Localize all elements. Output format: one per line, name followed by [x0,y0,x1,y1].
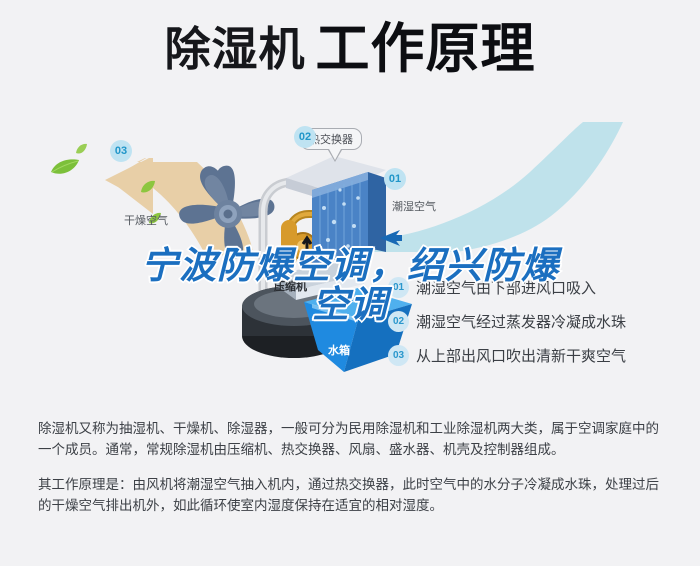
compressor-label: 压缩机 [274,278,307,294]
humid-air-label: 潮湿空气 [392,198,436,214]
legend-list: 01 潮湿空气由下部进风口吸入 02 潮湿空气经过蒸发器冷凝成水珠 03 从上部… [388,270,688,372]
legend-badge-02: 02 [388,311,409,332]
paragraph-1: 除湿机又称为抽湿机、干燥机、除湿器，一般可分为民用除湿机和工业除湿机两大类，属于… [38,418,666,460]
page-title: 除湿机工作原理 [0,22,700,76]
legend-text-03: 从上部出风口吹出清新干爽空气 [416,345,626,366]
diagram-badge-02: 02 [294,126,316,148]
dry-air-label: 干燥空气 [124,212,168,228]
legend-badge-01: 01 [388,277,409,298]
legend-item-03: 03 从上部出风口吹出清新干爽空气 [388,338,688,372]
page-title-main: 除湿机 [165,23,306,75]
diagram-badge-01: 01 [384,168,406,190]
poster-root: 除湿机工作原理 [0,0,700,566]
page-title-sub: 工作原理 [316,19,536,79]
water-tank-label: 水箱 [328,342,350,358]
leaf-icon [50,158,80,181]
legend-badge-03: 03 [388,345,409,366]
leaf-icon [75,142,88,160]
legend-item-01: 01 潮湿空气由下部进风口吸入 [388,270,688,304]
heat-exchanger-graphic [282,152,402,277]
diagram-badge-03: 03 [110,140,132,162]
paragraph-2: 其工作原理是：由风机将潮湿空气抽入机内，通过热交换器，此时空气中的水分子冷凝成水… [38,474,666,516]
description-text: 除湿机又称为抽湿机、干燥机、除湿器，一般可分为民用除湿机和工业除湿机两大类，属于… [38,418,666,530]
legend-text-02: 潮湿空气经过蒸发器冷凝成水珠 [416,311,626,332]
legend-text-01: 潮湿空气由下部进风口吸入 [416,277,596,298]
legend-item-02: 02 潮湿空气经过蒸发器冷凝成水珠 [388,304,688,338]
leaf-icon [140,180,156,199]
